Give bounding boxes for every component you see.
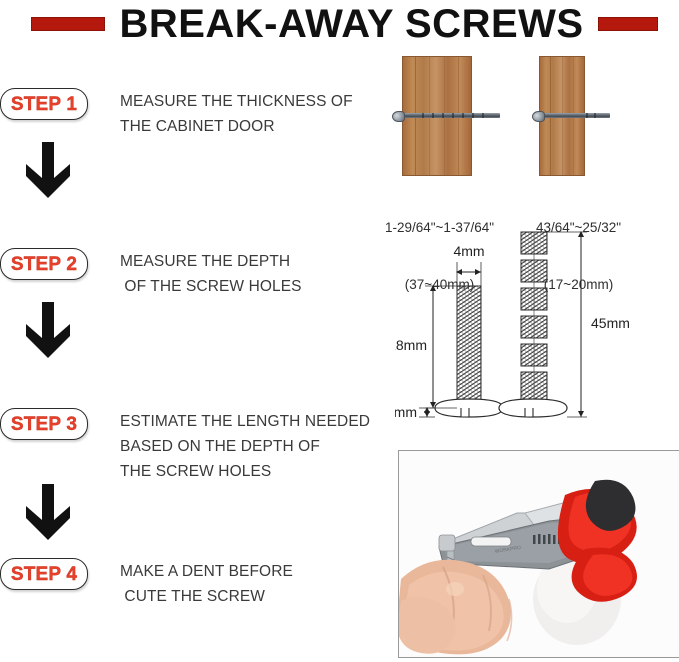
step-text-4: MAKE A DENT BEFORE CUTE THE SCREW — [120, 558, 293, 609]
step-badge-3-label: STEP 3 — [11, 415, 77, 434]
screw-dimension-drawing: 4mm 28mm 2.2mm — [395, 228, 679, 428]
step-row-3: STEP 3 ESTIMATE THE LENGTH NEEDED BASED … — [0, 408, 370, 484]
step-badge-4-label: STEP 4 — [11, 565, 77, 584]
step-badge-1: STEP 1 — [0, 88, 88, 120]
break-away-screw-length-label: 45mm — [591, 315, 630, 331]
screw-short-through-board — [532, 111, 610, 120]
step-text-1: MEASURE THE THICKNESS OF THE CABINET DOO… — [120, 88, 353, 139]
arrow-down-icon-3 — [24, 484, 72, 542]
step-badge-1-label: STEP 1 — [11, 95, 77, 114]
pliers-photo: WORKPRO — [398, 450, 679, 658]
page-title: BREAK-AWAY SCREWS — [119, 4, 583, 44]
page-header: BREAK-AWAY SCREWS — [0, 0, 679, 48]
screw-head-label: 2.2mm — [395, 404, 417, 420]
screw-length-label: 28mm — [395, 337, 427, 353]
title-dash-right-icon — [598, 17, 658, 31]
screw-width-label: 4mm — [453, 243, 484, 259]
step-badge-4: STEP 4 — [0, 558, 88, 590]
step-badge-2-label: STEP 2 — [11, 255, 77, 274]
step-badge-2: STEP 2 — [0, 248, 88, 280]
step-badge-3: STEP 3 — [0, 408, 88, 440]
infographic-page: BREAK-AWAY SCREWS STEP 1 MEASURE THE THI… — [0, 0, 679, 662]
step-text-3: ESTIMATE THE LENGTH NEEDED BASED ON THE … — [120, 408, 370, 484]
screw-long-through-board — [392, 111, 500, 120]
steps-column: STEP 1 MEASURE THE THICKNESS OF THE CABI… — [0, 52, 370, 662]
title-dash-left-icon — [31, 17, 105, 31]
step-row-2: STEP 2 MEASURE THE DEPTH OF THE SCREW HO… — [0, 248, 302, 299]
step-text-2: MEASURE THE DEPTH OF THE SCREW HOLES — [120, 248, 302, 299]
arrow-down-icon-1 — [24, 142, 72, 200]
step-row-4: STEP 4 MAKE A DENT BEFORE CUTE THE SCREW — [0, 558, 293, 609]
board-thickness-illustration: 1-29/64"~1-37/64" (37~40mm) 43/64"~25/32… — [372, 56, 679, 216]
step-row-1: STEP 1 MEASURE THE THICKNESS OF THE CABI… — [0, 88, 353, 139]
pliers-photo-illustration: WORKPRO — [399, 451, 677, 655]
arrow-down-icon-2 — [24, 302, 72, 360]
